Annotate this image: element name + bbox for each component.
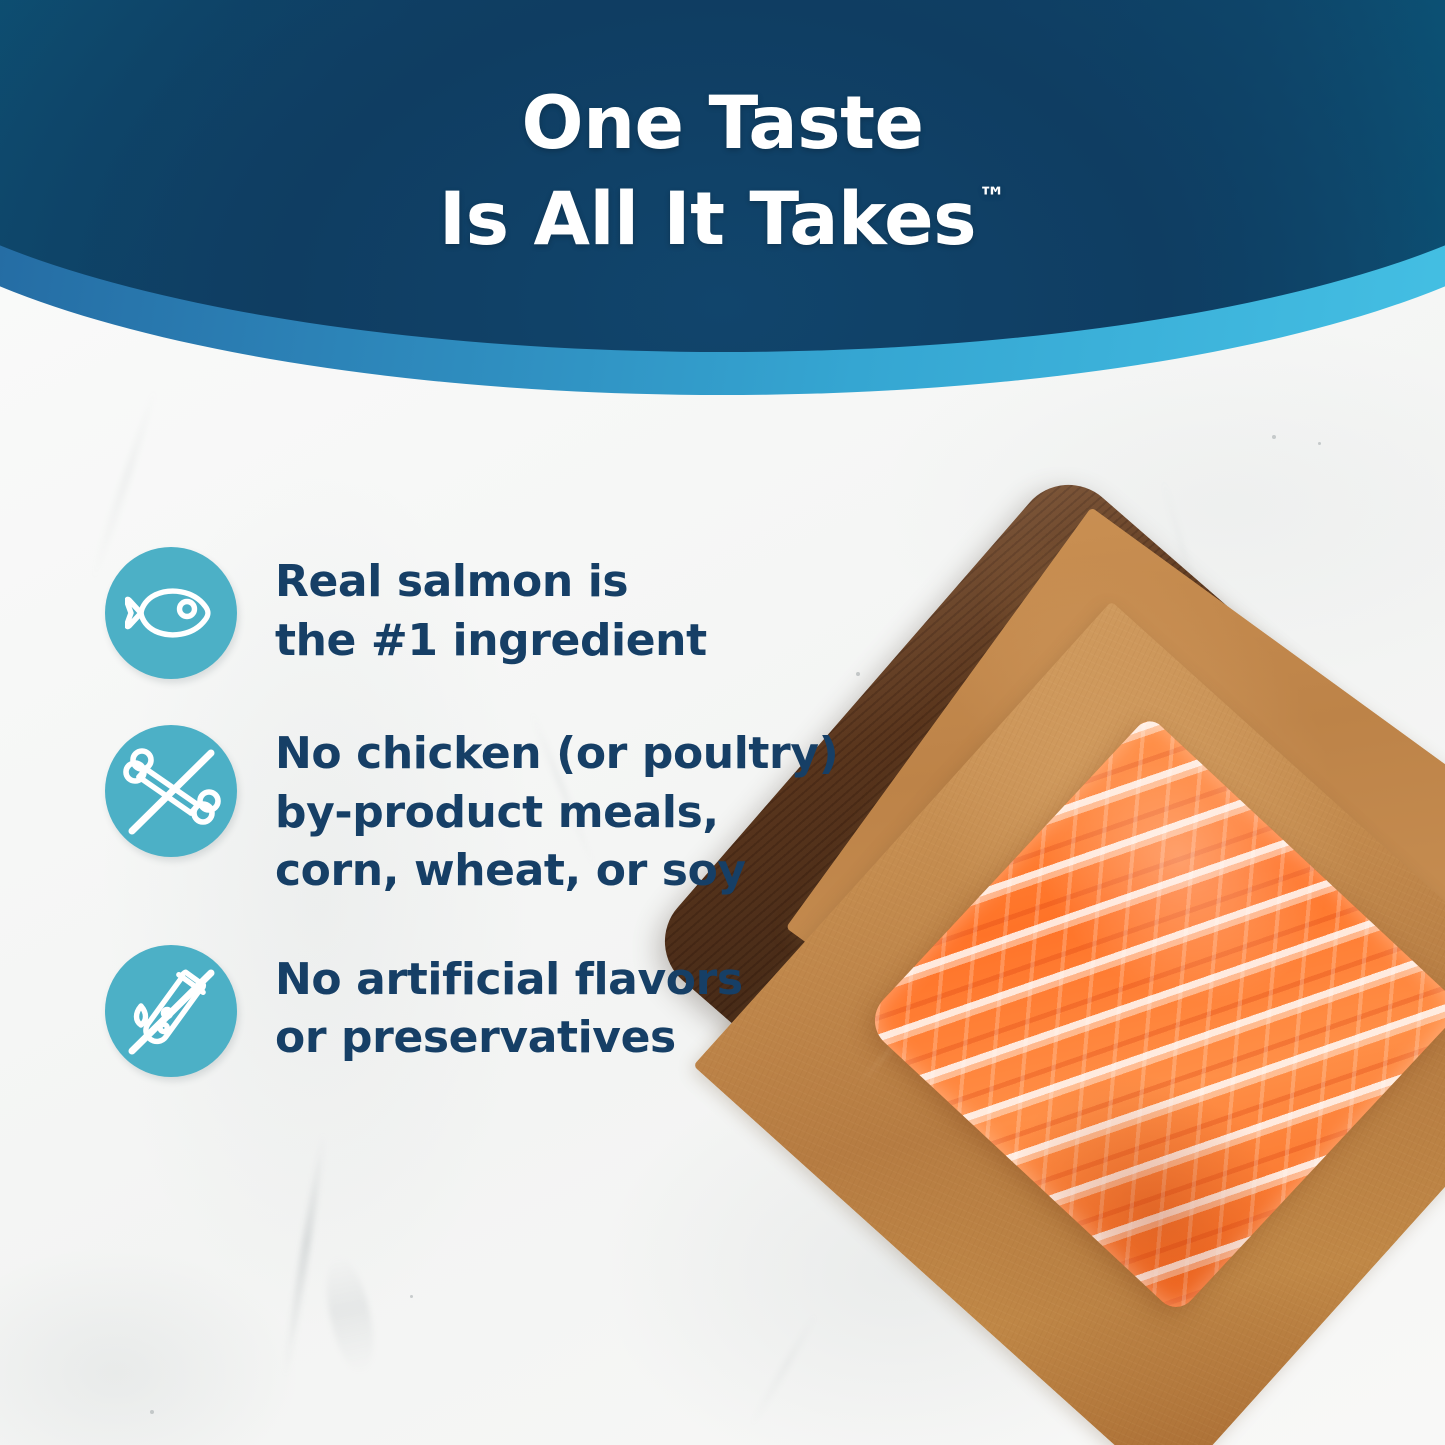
feature-item: No chicken (or poultry) by-product meals… <box>105 723 865 901</box>
feature-text: No chicken (or poultry) by-product meals… <box>237 723 838 901</box>
trademark-symbol: ™ <box>978 181 1006 214</box>
no-bone-icon-badge <box>105 725 237 857</box>
feature-item: No artificial flavors or preservatives <box>105 943 865 1077</box>
headline-line-2: Is All It Takes <box>439 177 976 262</box>
headline: One TasteIs All It Takes™ <box>0 76 1445 269</box>
marble-speck <box>1318 442 1321 445</box>
feature-list: Real salmon is the #1 ingredient <box>105 545 865 1077</box>
no-test-tube-icon-badge <box>105 945 237 1077</box>
marble-speck <box>410 1295 413 1298</box>
fish-icon <box>125 582 217 644</box>
marble-vein <box>281 1131 329 1379</box>
marble-vein <box>318 1252 382 1378</box>
feature-text: Real salmon is the #1 ingredient <box>237 545 707 670</box>
fish-icon-badge <box>105 547 237 679</box>
marble-speck <box>1272 435 1276 439</box>
marble-speck <box>150 1410 154 1414</box>
no-bone-icon <box>119 739 223 843</box>
feature-item: Real salmon is the #1 ingredient <box>105 545 865 679</box>
product-feature-panel: One TasteIs All It Takes™ <box>0 0 1445 1445</box>
headline-line-1: One Taste <box>522 81 924 166</box>
no-test-tube-icon <box>119 959 223 1063</box>
feature-text: No artificial flavors or preservatives <box>237 943 743 1068</box>
